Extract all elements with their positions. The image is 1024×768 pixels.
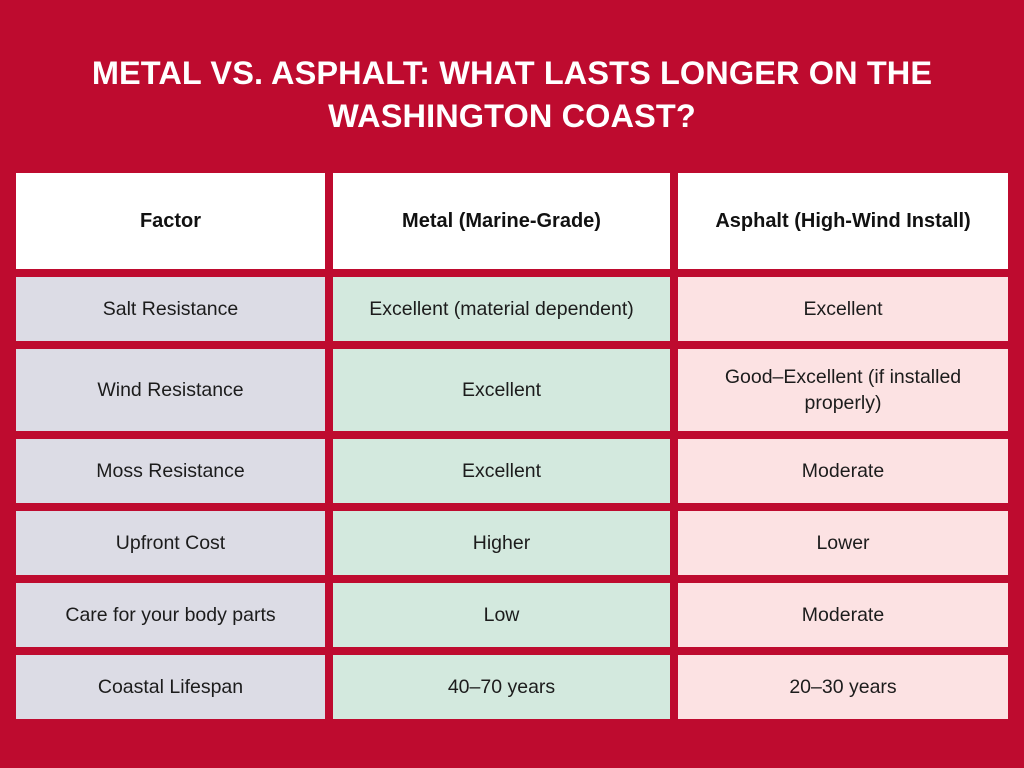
- cell-factor: Coastal Lifespan: [16, 655, 325, 719]
- cell-metal: Excellent: [333, 349, 670, 431]
- column-header-metal: Metal (Marine-Grade): [333, 173, 670, 269]
- cell-metal: Excellent (material dependent): [333, 277, 670, 341]
- column-header-asphalt: Asphalt (High-Wind Install): [678, 173, 1008, 269]
- table-row: Moss Resistance Excellent Moderate: [16, 439, 1008, 503]
- table-row: Upfront Cost Higher Lower: [16, 511, 1008, 575]
- table-header-row: Factor Metal (Marine-Grade) Asphalt (Hig…: [16, 173, 1008, 269]
- table-row: Coastal Lifespan 40–70 years 20–30 years: [16, 655, 1008, 719]
- cell-factor: Wind Resistance: [16, 349, 325, 431]
- cell-asphalt: Excellent: [678, 277, 1008, 341]
- cell-metal: 40–70 years: [333, 655, 670, 719]
- cell-asphalt: Moderate: [678, 439, 1008, 503]
- comparison-table: Factor Metal (Marine-Grade) Asphalt (Hig…: [16, 173, 1008, 719]
- cell-asphalt: Moderate: [678, 583, 1008, 647]
- cell-asphalt: 20–30 years: [678, 655, 1008, 719]
- table-row: Salt Resistance Excellent (material depe…: [16, 277, 1008, 341]
- infographic-page: Metal vs. Asphalt: What Lasts Longer on …: [0, 0, 1024, 768]
- column-header-factor: Factor: [16, 173, 325, 269]
- cell-asphalt: Lower: [678, 511, 1008, 575]
- cell-asphalt: Good–Excellent (if installed properly): [678, 349, 1008, 431]
- cell-factor: Upfront Cost: [16, 511, 325, 575]
- table-row: Wind Resistance Excellent Good–Excellent…: [16, 349, 1008, 431]
- cell-factor: Care for your body parts: [16, 583, 325, 647]
- cell-metal: Low: [333, 583, 670, 647]
- page-title: Metal vs. Asphalt: What Lasts Longer on …: [50, 52, 974, 138]
- table-row: Care for your body parts Low Moderate: [16, 583, 1008, 647]
- cell-metal: Higher: [333, 511, 670, 575]
- cell-factor: Salt Resistance: [16, 277, 325, 341]
- cell-factor: Moss Resistance: [16, 439, 325, 503]
- cell-metal: Excellent: [333, 439, 670, 503]
